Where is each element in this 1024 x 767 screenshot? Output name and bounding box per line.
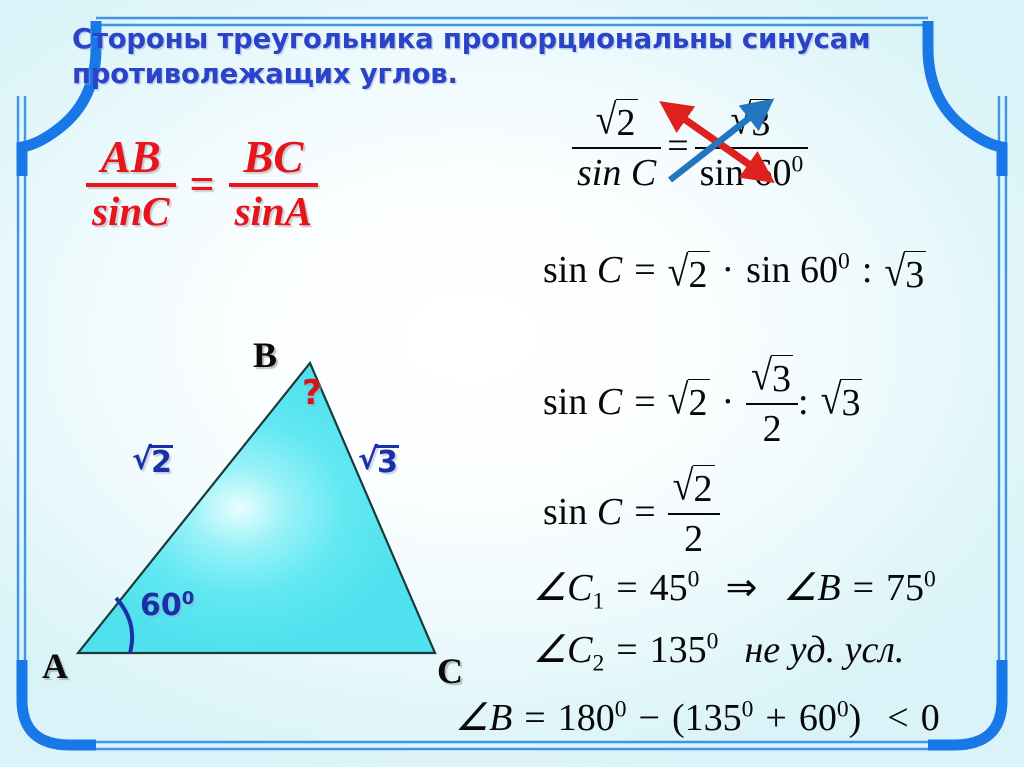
sin-fn2-eq2: sin bbox=[746, 249, 790, 291]
var-c-eq3: C bbox=[597, 380, 622, 424]
radical-sign-eq1-right: √ bbox=[731, 99, 752, 142]
equals-eq3: = bbox=[634, 380, 655, 424]
numerator-ab: AB bbox=[95, 134, 167, 180]
radicand-eq3: 2 bbox=[688, 379, 710, 425]
radical-sign-eq2: √ bbox=[668, 251, 689, 294]
equals-eq7: = bbox=[524, 697, 545, 739]
law-of-sines-formula: AB sinC = BC sinA bbox=[86, 134, 318, 234]
var-b-eq5: B bbox=[817, 567, 840, 609]
sin-fn-eq4: sin bbox=[543, 490, 587, 534]
radical-sign-ab: √ bbox=[132, 445, 152, 475]
side-label-ab: √2 bbox=[132, 442, 173, 478]
equation-contradiction: ∠B=1800−(1350+600)<0 bbox=[455, 695, 940, 740]
zero-eq7: 0 bbox=[921, 697, 940, 739]
value-75-eq5: 75 bbox=[886, 567, 924, 609]
var-c-eq2: C bbox=[597, 249, 622, 291]
denominator-eq3: 2 bbox=[758, 407, 787, 451]
plus-eq7: + bbox=[765, 697, 786, 739]
paren-close-eq7: ) bbox=[849, 697, 862, 739]
title-line-1: Стороны треугольника пропорциональны син… bbox=[72, 22, 952, 57]
slide-title: Стороны треугольника пропорциональны син… bbox=[72, 22, 952, 92]
colon-eq2: : bbox=[862, 249, 873, 291]
equals-eq5: = bbox=[616, 567, 637, 609]
value-135-eq6: 135 bbox=[650, 629, 707, 671]
angle-symbol-eq5: ∠ bbox=[533, 567, 567, 609]
radicand2-eq3: 3 bbox=[840, 379, 862, 425]
value-180-eq7: 180 bbox=[558, 697, 615, 739]
paren-open-eq7: ( bbox=[672, 697, 685, 739]
denominator-sina: sinA bbox=[229, 188, 319, 234]
radicand-ab: 2 bbox=[150, 445, 173, 478]
angle-symbol-eq6: ∠ bbox=[533, 629, 567, 671]
vertex-label-b: B bbox=[253, 334, 277, 376]
radicand-eq1-left: 2 bbox=[616, 99, 638, 145]
sin-fn-eq2: sin bbox=[543, 249, 587, 291]
var-c-eq6: C bbox=[567, 629, 592, 671]
vertex-label-c: C bbox=[437, 650, 463, 692]
radicand-bc: 3 bbox=[376, 445, 399, 478]
angle-symbol2-eq5: ∠ bbox=[783, 567, 817, 609]
equation-sinc-step2: sin C=√2· √3 2 :√3 bbox=[543, 352, 862, 451]
radicand2-eq2: 3 bbox=[904, 251, 926, 297]
value-45-eq5: 45 bbox=[650, 567, 688, 609]
equals-eq1: = bbox=[667, 124, 688, 168]
vertex-label-a: A bbox=[42, 645, 68, 687]
degree-eq2: 0 bbox=[838, 248, 850, 274]
dot-operator-eq3: · bbox=[722, 380, 735, 424]
fraction-bc-over-sina: BC sinA bbox=[229, 134, 319, 234]
radical-sign-eq1-left: √ bbox=[596, 99, 617, 142]
radical-sign2-eq2: √ bbox=[884, 251, 905, 294]
degree2-eq5: 0 bbox=[924, 566, 936, 592]
equation-sinc-result: sin C= √2 2 bbox=[543, 462, 720, 561]
numerator-bc: BC bbox=[237, 134, 309, 180]
fraction-bar-left bbox=[86, 183, 176, 187]
numerator-sqrt2: √2 bbox=[591, 96, 643, 145]
fraction-sqrt2-over-2-eq4: √2 2 bbox=[668, 462, 720, 561]
implies-arrow-eq5: ⇒ bbox=[725, 567, 757, 609]
triangle-figure: A B C √2 √3 600 ? bbox=[20, 330, 510, 710]
subscript-2-eq6: 2 bbox=[592, 651, 604, 677]
radical-sign-frac-eq3: √ bbox=[751, 355, 772, 398]
title-line-2: противолежащих углов. bbox=[72, 57, 952, 92]
triangle-polygon bbox=[78, 363, 435, 653]
colon-eq3: : bbox=[798, 380, 809, 424]
degree1-eq7: 0 bbox=[615, 696, 627, 722]
less-than-eq7: < bbox=[887, 697, 908, 739]
fraction-bar-eq1-left bbox=[572, 147, 661, 149]
equation-proportion: √2 sin C = √3 sin 600 bbox=[572, 96, 808, 195]
value-135-eq7: 135 bbox=[685, 697, 742, 739]
slide-canvas: Стороны треугольника пропорциональны син… bbox=[0, 0, 1024, 767]
radical-sign2-eq3: √ bbox=[821, 379, 842, 422]
degree2-eq7: 0 bbox=[742, 696, 754, 722]
angle-symbol-eq7: ∠ bbox=[455, 697, 489, 739]
fraction-bar-right bbox=[229, 183, 319, 187]
var-c-eq4: C bbox=[597, 490, 622, 534]
denominator-sin60-eq1: sin 600 bbox=[695, 151, 809, 195]
side-label-bc: √3 bbox=[358, 442, 399, 478]
angle-degree-a: 0 bbox=[182, 588, 195, 609]
equals-eq2: = bbox=[634, 249, 655, 291]
equation-case2: ∠C2=1350не уд. усл. bbox=[533, 627, 904, 678]
value-60-eq7: 60 bbox=[799, 697, 837, 739]
fraction-bar-eq3 bbox=[746, 403, 798, 405]
radical-sign-eq4: √ bbox=[673, 465, 694, 508]
radicand-eq1-right: 3 bbox=[750, 99, 772, 145]
minus-eq7: − bbox=[639, 697, 660, 739]
equation-case1: ∠C1=450⇒∠B=750 bbox=[533, 565, 936, 616]
fraction-sqrt3-over-2-eq3: √3 2 bbox=[746, 352, 798, 451]
equals-eq4: = bbox=[634, 490, 655, 534]
numerator-sqrt3: √3 bbox=[726, 96, 778, 145]
angle-label-a: 600 bbox=[140, 588, 194, 623]
subscript-1-eq5: 1 bbox=[592, 589, 604, 615]
angle-60-eq2: 60 bbox=[800, 249, 838, 291]
equals-sign-formula: = bbox=[190, 159, 215, 210]
radicand-eq2: 2 bbox=[688, 251, 710, 297]
fraction-sqrt2-over-sinc: √2 sin C bbox=[572, 96, 661, 195]
var-b-eq7: B bbox=[489, 697, 512, 739]
equals-eq6: = bbox=[616, 629, 637, 671]
sin-fn-eq3: sin bbox=[543, 380, 587, 424]
degree-eq5: 0 bbox=[688, 566, 700, 592]
equation-sinc-step1: sin C=√2·sin 600:√3 bbox=[543, 248, 926, 297]
denominator-sinc-eq1: sin C bbox=[572, 151, 661, 195]
dot-operator-eq2: · bbox=[722, 249, 735, 291]
degree-eq6: 0 bbox=[707, 628, 719, 654]
var-c-eq5: C bbox=[567, 567, 592, 609]
degree3-eq7: 0 bbox=[837, 696, 849, 722]
radical-sign-bc: √ bbox=[358, 445, 378, 475]
fraction-bar-eq4 bbox=[668, 513, 720, 515]
note-not-satisfying: не уд. усл. bbox=[744, 629, 904, 671]
fraction-sqrt3-over-sin60: √3 sin 600 bbox=[695, 96, 809, 195]
fraction-ab-over-sinc: AB sinC bbox=[86, 134, 176, 234]
equals2-eq5: = bbox=[853, 567, 874, 609]
radicand-eq4: 2 bbox=[693, 465, 715, 511]
denominator-sinc: sinC bbox=[86, 188, 176, 234]
unknown-angle-question-mark: ? bbox=[302, 373, 322, 413]
radical-sign-eq3: √ bbox=[668, 379, 689, 422]
denominator-eq4: 2 bbox=[679, 517, 708, 561]
angle-value-a: 60 bbox=[140, 588, 182, 623]
fraction-bar-eq1-right bbox=[695, 147, 809, 149]
radicand-frac-eq3: 3 bbox=[771, 355, 793, 401]
